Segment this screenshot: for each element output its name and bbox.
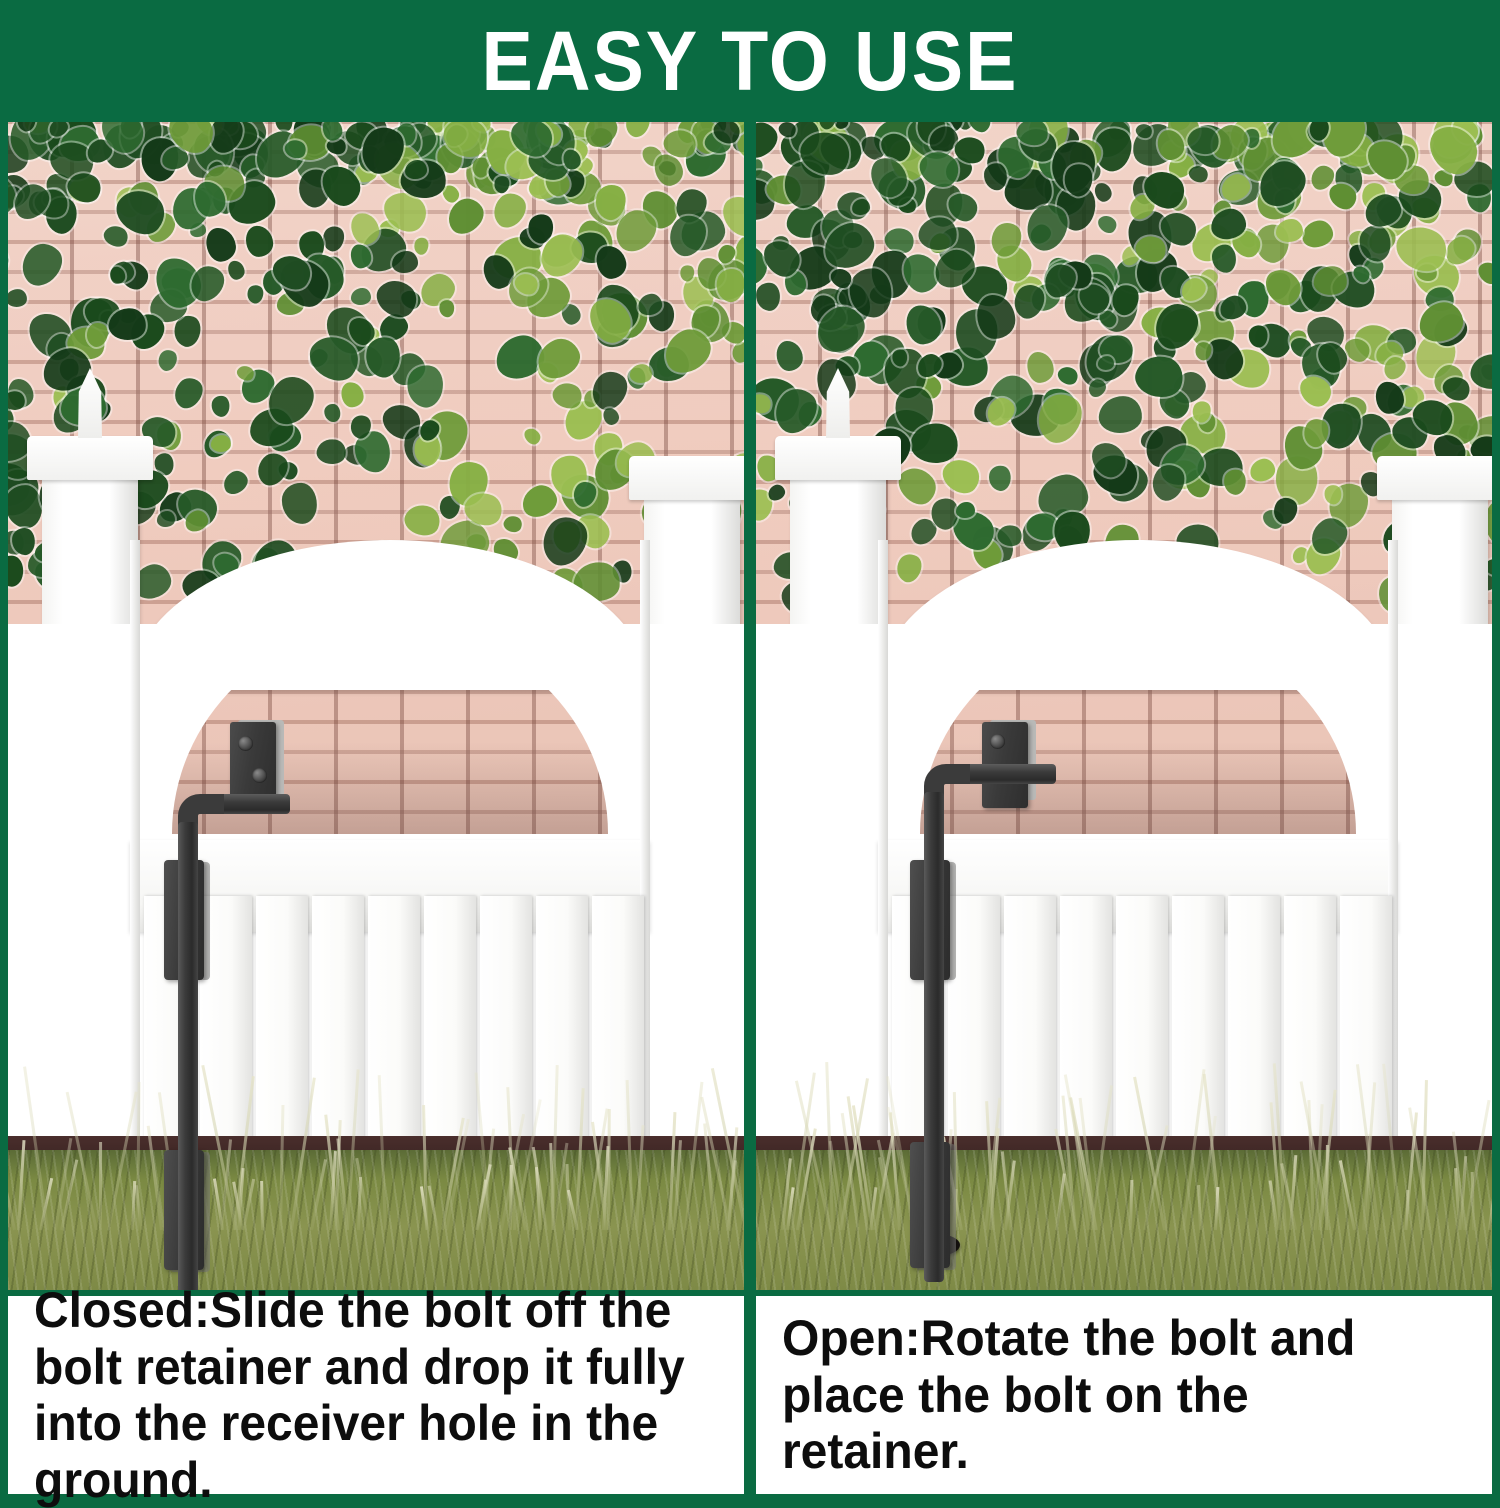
leaf-icon: [8, 214, 9, 247]
leaf-icon: [154, 346, 181, 374]
caption-box-closed: Closed:Slide the bolt off the bolt retai…: [8, 1296, 744, 1494]
leaf-icon: [966, 122, 994, 136]
leaf-icon: [400, 499, 444, 540]
post-cap-icon: [629, 456, 744, 500]
leaf-icon: [756, 282, 781, 312]
grass-blade: [99, 1142, 102, 1230]
photo-comparison-strip: [0, 122, 1500, 1290]
leaf-icon: [502, 513, 525, 534]
grass-blade: [427, 1186, 438, 1230]
scene-open: [756, 122, 1492, 1290]
leaf-icon: [8, 555, 25, 588]
gate-picket: [424, 896, 476, 1156]
gate-picket: [592, 896, 644, 1156]
mount-screw-top-icon: [238, 736, 253, 751]
grass-blade: [1289, 1155, 1297, 1230]
grass-blade: [310, 1159, 327, 1231]
leaf-icon: [1098, 395, 1143, 434]
leaf-icon: [956, 502, 975, 518]
fence-post-left: [42, 480, 138, 1200]
post-cap-icon: [1377, 456, 1492, 500]
infographic-page: EASY TO USE: [0, 0, 1500, 1500]
leaf-icon: [8, 241, 13, 278]
grass-ground: [8, 1150, 744, 1290]
mount-screw-bottom-icon: [252, 768, 267, 783]
gate-picket: [1340, 896, 1392, 1156]
drop-rod-open: [924, 792, 944, 1282]
leaf-icon: [371, 272, 424, 325]
header-banner: EASY TO USE: [0, 0, 1500, 122]
fence-post-right: [644, 500, 740, 1200]
panel-closed-state: [8, 122, 744, 1290]
leaf-icon: [8, 485, 42, 529]
leaf-icon: [777, 340, 804, 371]
caption-divider: [744, 1290, 756, 1500]
leaf-icon: [851, 198, 870, 215]
grass-blade: [242, 1179, 255, 1231]
grass-blade: [8, 1179, 16, 1230]
page-title: EASY TO USE: [481, 19, 1018, 103]
gate-picket: [1004, 896, 1056, 1156]
leaf-icon: [13, 236, 69, 292]
leaf-icon: [522, 425, 543, 447]
leaf-icon: [437, 299, 455, 319]
grass-blade: [17, 1140, 25, 1230]
leaf-icon: [1094, 181, 1114, 203]
leaf-icon: [1055, 363, 1081, 388]
fence-post-right: [1392, 500, 1488, 1200]
grass-blade: [1488, 1172, 1492, 1230]
gate-frame-left: [878, 540, 888, 1200]
leaf-icon: [324, 404, 340, 422]
caption-text-open: Open:Rotate the bolt and place the bolt …: [782, 1310, 1442, 1480]
drop-rod-closed: [178, 822, 198, 1290]
leaf-icon: [1475, 257, 1492, 288]
leaf-icon: [603, 407, 621, 427]
leaf-icon: [8, 288, 29, 309]
leaf-icon: [1096, 211, 1121, 236]
leaf-icon: [246, 225, 274, 257]
leaf-icon: [1276, 219, 1303, 242]
leaf-icon: [282, 483, 318, 524]
leaf-icon: [1026, 351, 1055, 384]
grass-ground: [756, 1150, 1492, 1290]
grass-blade: [607, 1109, 611, 1230]
leaf-icon: [1248, 456, 1277, 483]
caption-box-open: Open:Rotate the bolt and place the bolt …: [756, 1296, 1492, 1494]
caption-row: Closed:Slide the bolt off the bolt retai…: [0, 1290, 1500, 1500]
leaf-icon: [351, 288, 371, 306]
leaf-icon: [219, 467, 251, 498]
mount-screw-top-icon: [990, 734, 1005, 749]
leaf-icon: [315, 437, 348, 466]
fence-post-left: [790, 480, 886, 1200]
leaf-icon: [1469, 352, 1492, 392]
panel-open-state: [756, 122, 1492, 1290]
post-cap-icon: [775, 436, 901, 480]
leaf-icon: [204, 225, 237, 262]
leaf-icon: [227, 259, 246, 280]
leaf-icon: [977, 294, 1016, 339]
gate-picket: [1060, 896, 1112, 1156]
grass-blade: [1339, 1160, 1356, 1230]
panel-divider: [744, 122, 756, 1290]
leaf-icon: [168, 373, 208, 413]
leaf-icon: [341, 382, 364, 409]
leaf-icon: [1300, 219, 1335, 250]
leaf-icon: [986, 464, 1012, 493]
grass-blade: [673, 1140, 682, 1230]
leaf-icon: [210, 394, 231, 418]
leaf-icon: [157, 511, 176, 527]
leaf-icon: [621, 122, 655, 141]
grass-blade: [260, 1181, 264, 1230]
leaf-icon: [531, 333, 585, 383]
caption-text-closed: Closed:Slide the bolt off the bolt retai…: [34, 1282, 694, 1508]
leaf-icon: [1212, 244, 1237, 272]
grass-blade: [1129, 1180, 1133, 1230]
scene-closed: [8, 122, 744, 1290]
post-cap-icon: [27, 436, 153, 480]
leaf-icon: [392, 250, 418, 272]
gate-picket: [368, 896, 420, 1156]
